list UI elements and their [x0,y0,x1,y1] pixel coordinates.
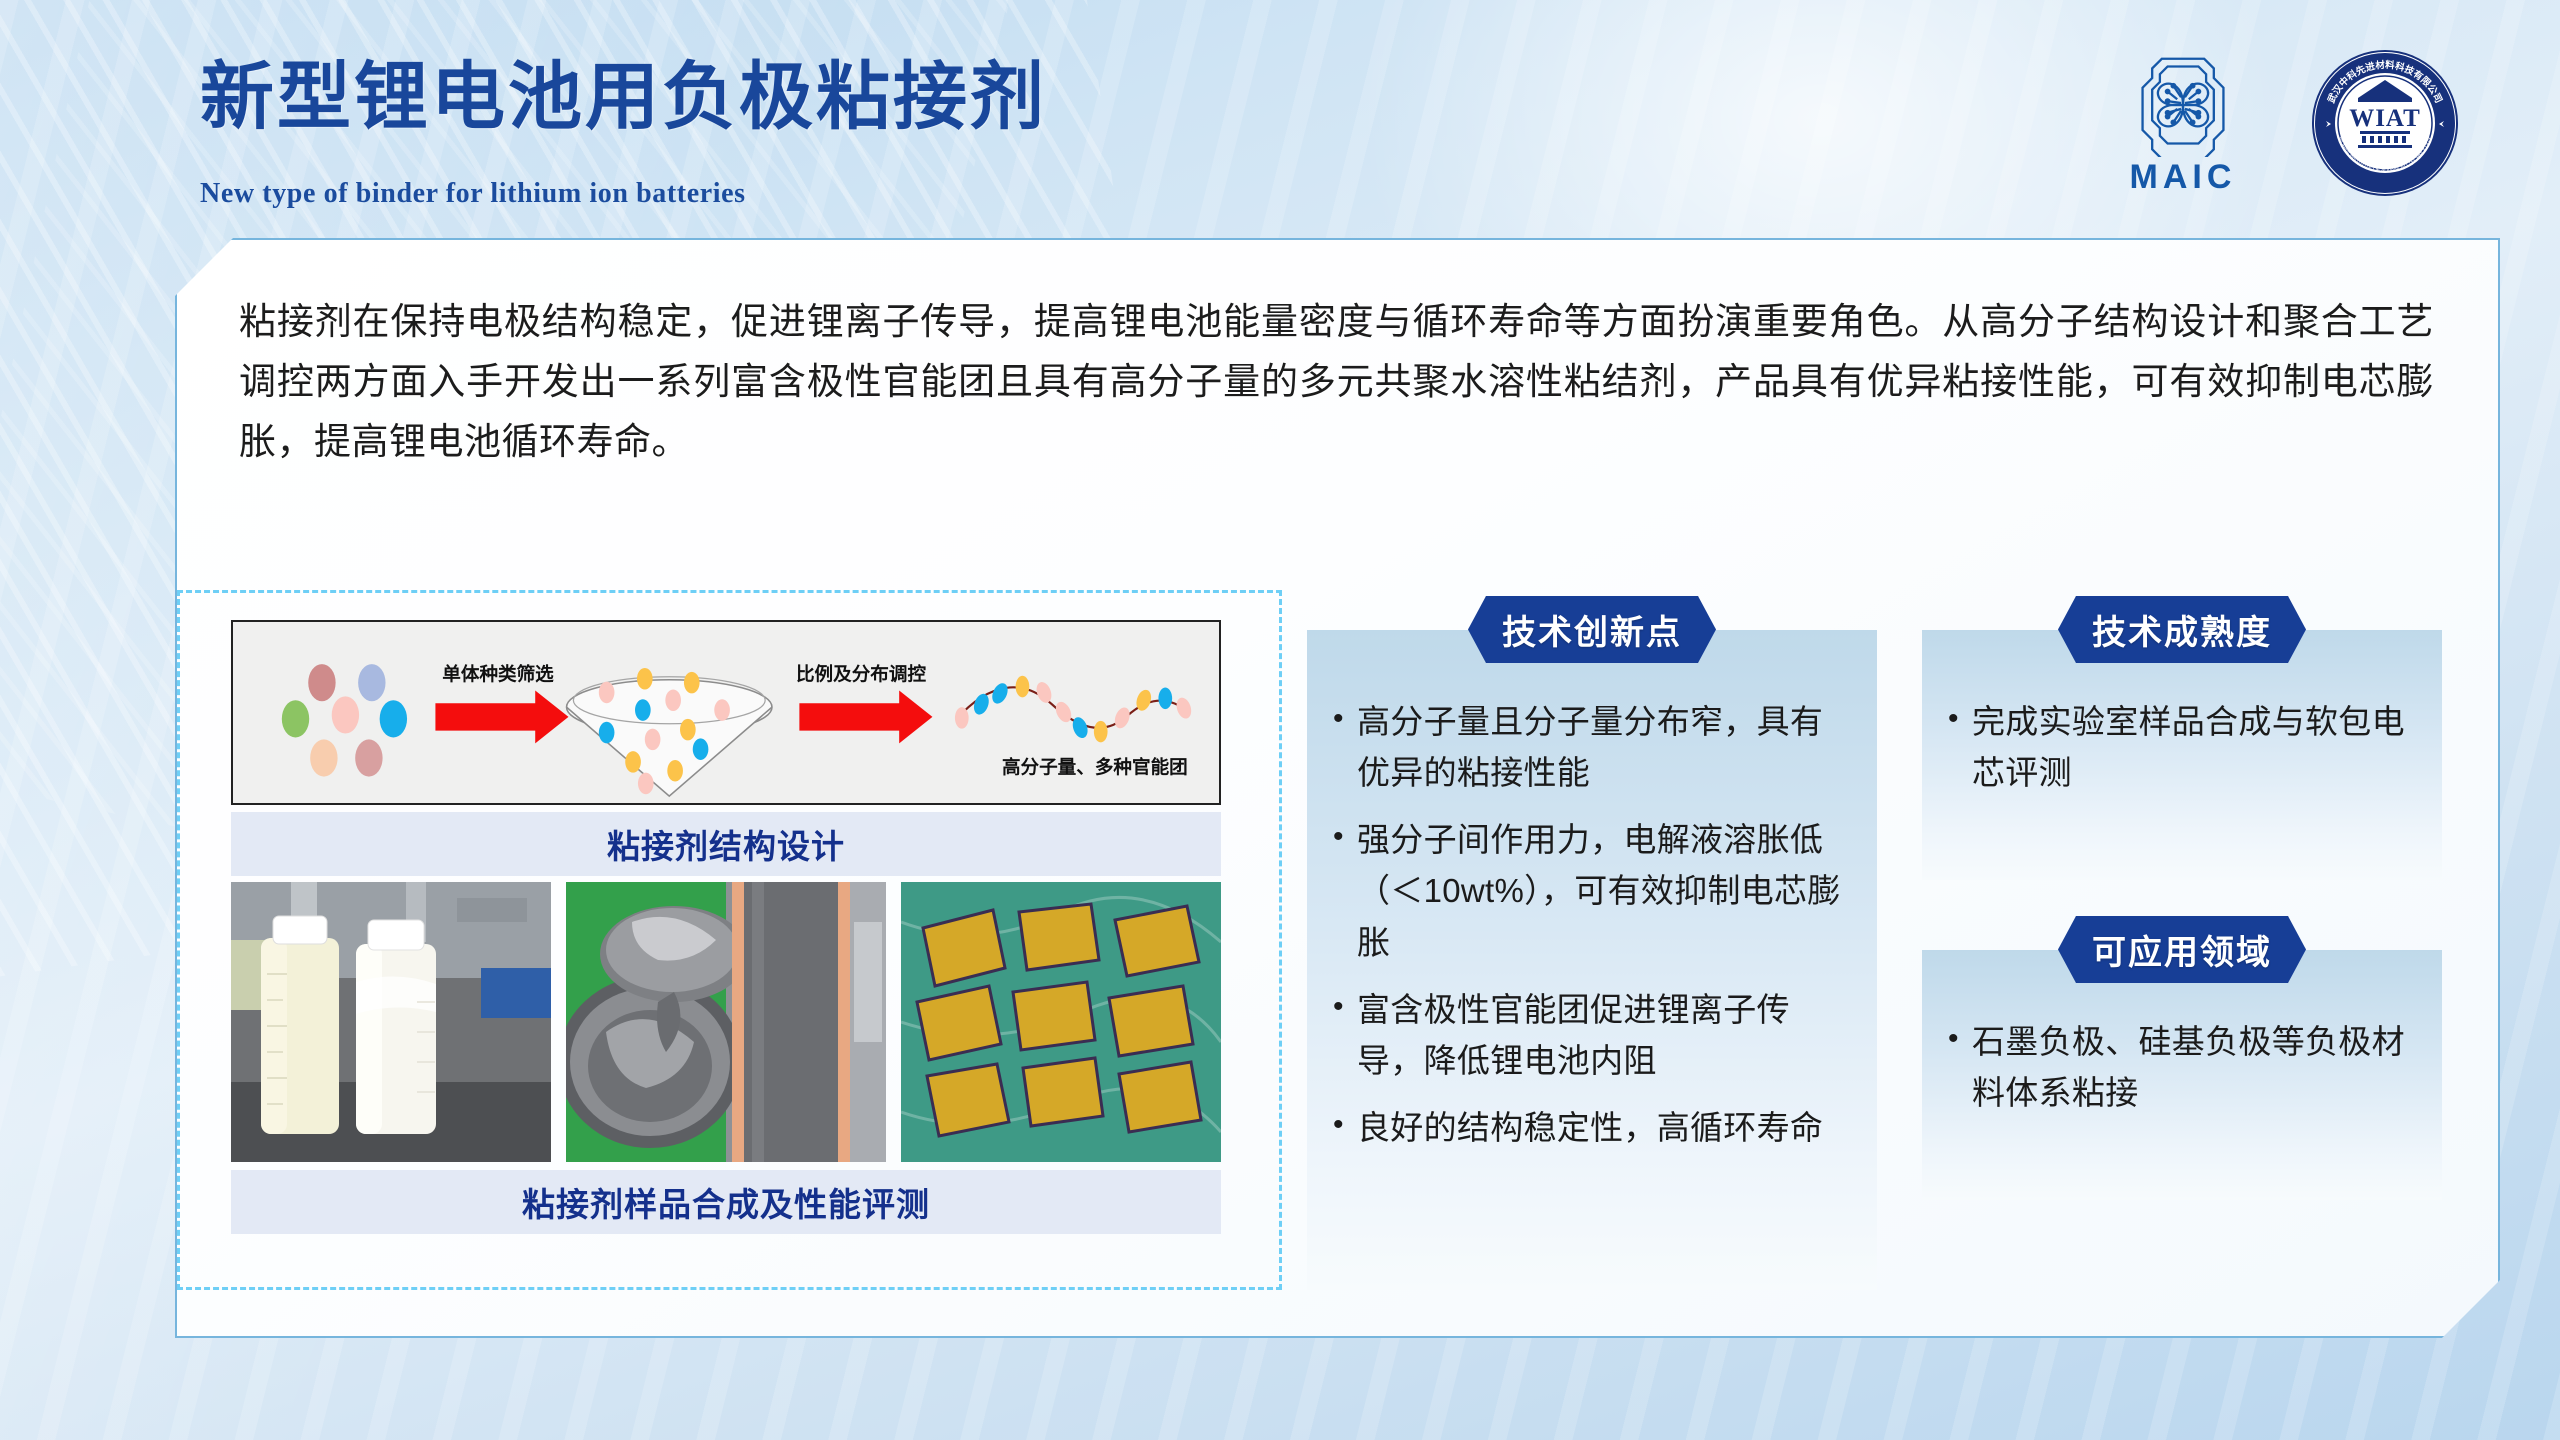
panel-technical-innovation: 技术创新点 • 高分子量且分子量分布窄，具有优异的粘接性能 • 强分子间作用力，… [1307,630,1877,1290]
list-item: • 石墨负极、硅基负极等负极材料体系粘接 [1948,1016,2412,1118]
list-item: • 强分子间作用力，电解液溶胀低（＜10wt%），可有效抑制电芯膨胀 [1333,814,1847,967]
bullet-dot-icon: • [1948,1016,1972,1118]
content-card: 粘接剂在保持电极结构稳定，促进锂离子传导，提高锂电池能量密度与循环寿命等方面扮演… [175,238,2500,1338]
figure-caption-structure-design: 粘接剂结构设计 [231,812,1221,876]
page-title: 新型锂电池用负极粘接剂 [200,60,1047,134]
slurry-mixer-and-copper-foil-photo [566,882,886,1162]
maic-logo: MAIC [2098,53,2268,193]
photo-strip [231,882,1221,1162]
wiat-logo: 武汉中科先进材料科技有限公司 WUHAN INSTITUTE OF ADVANC… [2310,48,2460,198]
bullet-dot-icon: • [1948,696,1972,798]
figure-caption-sample-synthesis: 粘接剂样品合成及性能评测 [231,1170,1221,1234]
maic-logo-text: MAIC [2098,158,2268,197]
badge-technical-innovation: 技术创新点 [1468,596,1716,663]
bullet-list-innovation: • 高分子量且分子量分布窄，具有优异的粘接性能 • 强分子间作用力，电解液溶胀低… [1307,630,1877,1191]
panel-application-fields: 可应用领域 • 石墨负极、硅基负极等负极材料体系粘接 [1922,950,2442,1200]
bullet-dot-icon: • [1333,1102,1357,1153]
list-item: • 良好的结构稳定性，高循环寿命 [1333,1102,1847,1153]
svg-text:WIAT: WIAT [2349,105,2421,132]
bullet-dot-icon: • [1333,814,1357,967]
svg-text:比例及分布调控: 比例及分布调控 [796,664,926,685]
svg-text:高分子量、多种官能团: 高分子量、多种官能团 [1002,757,1188,778]
page-subtitle: New type of binder for lithium ion batte… [200,178,746,210]
left-figure-panel: 单体种类筛选 [177,590,1282,1290]
badge-application-fields: 可应用领域 [2058,916,2306,983]
badge-technical-maturity: 技术成熟度 [2058,596,2306,663]
logo-group: MAIC 武汉中科先进材料科技有限公司 WUHAN INSTITUTE OF A… [2098,48,2460,198]
list-item: • 富含极性官能团促进锂离子传导，降低锂电池内阻 [1333,984,1847,1086]
svg-text:单体种类筛选: 单体种类筛选 [442,664,554,685]
page-header: 新型锂电池用负极粘接剂 New type of binder for lithi… [0,0,2560,230]
bullet-dot-icon: • [1333,984,1357,1086]
binder-sample-bottles-photo [231,882,551,1162]
binder-structure-diagram: 单体种类筛选 [231,620,1221,805]
diagram-svg: 单体种类筛选 [233,622,1219,803]
list-item: • 完成实验室样品合成与软包电芯评测 [1948,696,2412,798]
panel-technical-maturity: 技术成熟度 • 完成实验室样品合成与软包电芯评测 [1922,630,2442,880]
bullet-dot-icon: • [1333,696,1357,798]
intro-paragraph: 粘接剂在保持电极结构稳定，促进锂离子传导，提高锂电池能量密度与循环寿命等方面扮演… [239,292,2434,472]
coated-electrode-plates-photo [901,882,1221,1162]
list-item: • 高分子量且分子量分布窄，具有优异的粘接性能 [1333,696,1847,798]
